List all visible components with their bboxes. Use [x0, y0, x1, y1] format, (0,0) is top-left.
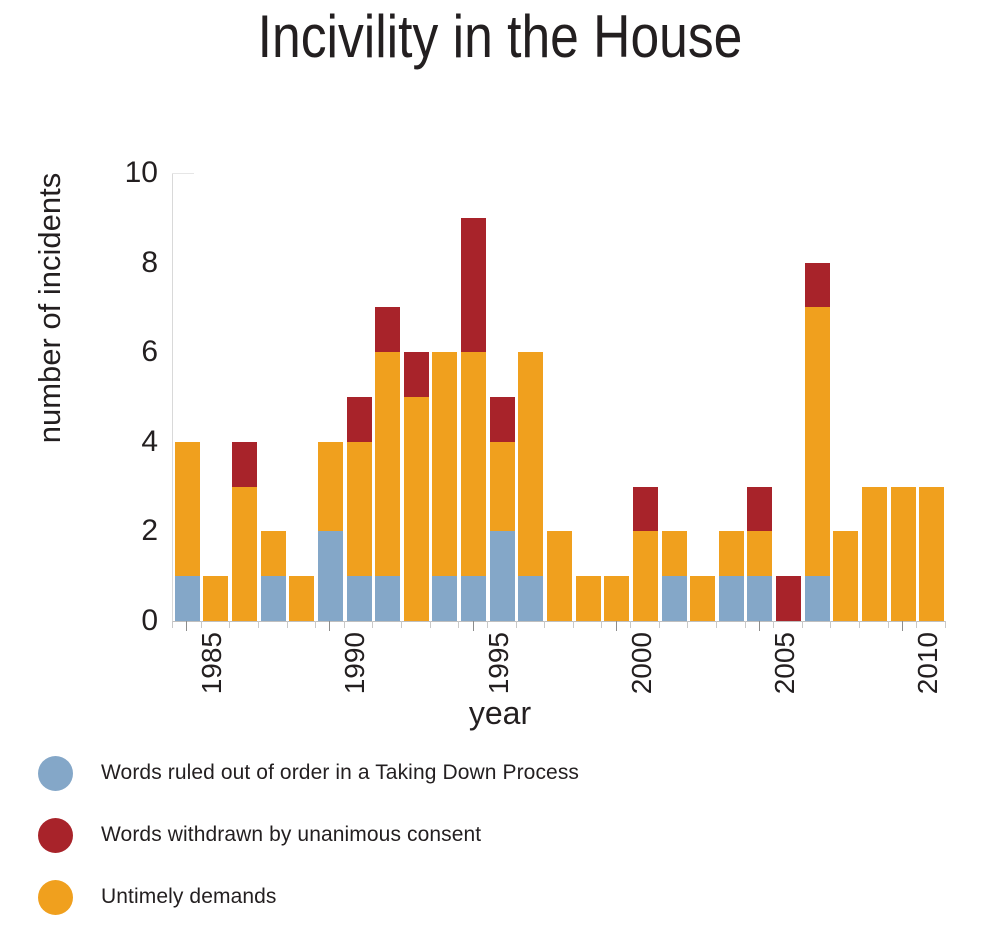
bar-segment-untimely	[518, 352, 543, 576]
bar-segment-withdrawn	[347, 397, 372, 442]
bar-2005[interactable]	[747, 487, 772, 621]
bar-segment-withdrawn	[404, 352, 429, 397]
bar-segment-withdrawn	[461, 218, 486, 352]
x-tick-label: 2000	[626, 632, 658, 694]
bar-segment-withdrawn	[375, 307, 400, 352]
bar-1997[interactable]	[518, 352, 543, 621]
x-axis-tick-major	[473, 621, 474, 631]
bar-segment-taking-down	[347, 576, 372, 621]
legend-swatch-taking_down	[38, 756, 73, 791]
bar-segment-withdrawn	[776, 576, 801, 621]
x-axis-tick	[916, 621, 917, 628]
bar-segment-taking-down	[175, 576, 200, 621]
x-tick-label: 2010	[912, 632, 944, 694]
bar-segment-untimely	[375, 352, 400, 576]
bar-segment-untimely	[604, 576, 629, 621]
bar-segment-untimely	[203, 576, 228, 621]
x-axis-tick-major	[902, 621, 903, 631]
x-axis-tick	[544, 621, 545, 628]
legend-item-withdrawn[interactable]: Words withdrawn by unanimous consent	[38, 804, 978, 866]
bar-2006[interactable]	[776, 576, 801, 621]
x-tick-label: 2005	[769, 632, 801, 694]
bar-segment-untimely	[232, 487, 257, 621]
bar-segment-untimely	[404, 397, 429, 621]
bar-segment-untimely	[576, 576, 601, 621]
bar-segment-taking-down	[518, 576, 543, 621]
chart-figure: 0246810 number of incidents 198519901995…	[0, 0, 1000, 760]
x-axis-tick	[802, 621, 803, 628]
x-axis-tick-major	[759, 621, 760, 631]
bar-segment-untimely	[318, 442, 343, 532]
x-axis-tick	[258, 621, 259, 628]
y-tick-label: 2	[96, 516, 158, 546]
bar-segment-taking-down	[432, 576, 457, 621]
bar-segment-untimely	[261, 531, 286, 576]
x-axis-tick	[201, 621, 202, 628]
bar-segment-untimely	[891, 487, 916, 621]
bar-segment-untimely	[461, 352, 486, 576]
bar-2007[interactable]	[805, 263, 830, 621]
x-axis-tick-major	[186, 621, 187, 631]
bar-1988[interactable]	[261, 531, 286, 621]
bar-segment-taking-down	[318, 531, 343, 621]
legend-swatch-withdrawn	[38, 818, 73, 853]
x-axis-tick	[172, 621, 173, 628]
bar-2000[interactable]	[604, 576, 629, 621]
bar-1995[interactable]	[461, 218, 486, 621]
bar-segment-untimely	[347, 442, 372, 576]
legend-swatch-untimely	[38, 880, 73, 915]
bar-segment-untimely	[175, 442, 200, 576]
bar-1998[interactable]	[547, 531, 572, 621]
x-axis-tick	[372, 621, 373, 628]
x-axis-tick	[773, 621, 774, 628]
bar-segment-taking-down	[261, 576, 286, 621]
x-axis-tick	[573, 621, 574, 628]
bar-segment-untimely	[719, 531, 744, 576]
bar-1992[interactable]	[375, 307, 400, 621]
legend-label: Untimely demands	[101, 885, 277, 908]
y-tick-label: 6	[96, 337, 158, 367]
bar-segment-untimely	[432, 352, 457, 576]
bar-2001[interactable]	[633, 487, 658, 621]
bar-1999[interactable]	[576, 576, 601, 621]
y-axis-title: number of incidents	[32, 108, 68, 508]
bar-segment-taking-down	[461, 576, 486, 621]
x-axis-tick	[945, 621, 946, 628]
bar-segment-untimely	[747, 531, 772, 576]
chart-legend: Words ruled out of order in a Taking Dow…	[38, 742, 978, 928]
x-axis-tick-major	[329, 621, 330, 631]
x-axis-tick	[458, 621, 459, 628]
bar-segment-untimely	[547, 531, 572, 621]
bar-segment-untimely	[862, 487, 887, 621]
bar-segment-untimely	[662, 531, 687, 576]
x-axis-tick	[344, 621, 345, 628]
bar-segment-untimely	[919, 487, 944, 621]
bar-segment-withdrawn	[805, 263, 830, 308]
bar-segment-untimely	[289, 576, 314, 621]
bar-segment-taking-down	[662, 576, 687, 621]
bar-1991[interactable]	[347, 397, 372, 621]
bar-segment-taking-down	[719, 576, 744, 621]
x-axis-tick	[745, 621, 746, 628]
plot-area	[172, 173, 945, 621]
bar-2002[interactable]	[662, 531, 687, 621]
x-axis-tick	[229, 621, 230, 628]
x-axis-tick	[287, 621, 288, 628]
bar-segment-untimely	[690, 576, 715, 621]
legend-item-taking_down[interactable]: Words ruled out of order in a Taking Dow…	[38, 742, 978, 804]
y-tick-label: 10	[96, 158, 158, 188]
bar-segment-taking-down	[490, 531, 515, 621]
x-tick-label: 1995	[483, 632, 515, 694]
y-tick-label: 4	[96, 427, 158, 457]
x-axis-tick	[401, 621, 402, 628]
x-axis-tick	[716, 621, 717, 628]
bar-segment-untimely	[633, 531, 658, 621]
bar-segment-withdrawn	[232, 442, 257, 487]
bar-2010[interactable]	[891, 487, 916, 621]
x-axis-tick	[516, 621, 517, 628]
x-tick-label: 1990	[339, 632, 371, 694]
legend-item-untimely[interactable]: Untimely demands	[38, 866, 978, 928]
bar-1990[interactable]	[318, 442, 343, 621]
bar-segment-taking-down	[747, 576, 772, 621]
bar-segment-untimely	[833, 531, 858, 621]
bar-1986[interactable]	[203, 576, 228, 621]
bar-1985[interactable]	[175, 442, 200, 621]
bar-1989[interactable]	[289, 576, 314, 621]
x-axis-tick	[888, 621, 889, 628]
x-axis-title: year	[0, 695, 1000, 732]
x-tick-label: 1985	[196, 632, 228, 694]
bar-segment-withdrawn	[490, 397, 515, 442]
legend-label: Words withdrawn by unanimous consent	[101, 823, 481, 846]
bar-2009[interactable]	[862, 487, 887, 621]
x-axis-tick	[687, 621, 688, 628]
bar-2004[interactable]	[719, 531, 744, 621]
bar-segment-taking-down	[375, 576, 400, 621]
bar-2003[interactable]	[690, 576, 715, 621]
x-axis-tick	[601, 621, 602, 628]
x-axis-tick	[859, 621, 860, 628]
x-axis-tick	[315, 621, 316, 628]
x-axis-tick	[487, 621, 488, 628]
bar-2011[interactable]	[919, 487, 944, 621]
bar-segment-untimely	[805, 307, 830, 576]
bar-segment-withdrawn	[747, 487, 772, 532]
bar-segment-untimely	[490, 442, 515, 532]
bar-1993[interactable]	[404, 352, 429, 621]
y-tick-label: 8	[96, 248, 158, 278]
bar-2008[interactable]	[833, 531, 858, 621]
legend-label: Words ruled out of order in a Taking Dow…	[101, 761, 579, 784]
bar-1994[interactable]	[432, 352, 457, 621]
bar-segment-withdrawn	[633, 487, 658, 532]
y-tick-label: 0	[96, 606, 158, 636]
y-tick-labels: 0246810	[0, 0, 160, 760]
bar-1996[interactable]	[490, 397, 515, 621]
x-axis-tick	[630, 621, 631, 628]
bar-segment-taking-down	[805, 576, 830, 621]
x-axis-tick	[659, 621, 660, 628]
x-axis-tick	[430, 621, 431, 628]
x-axis-tick-major	[616, 621, 617, 631]
bar-1987[interactable]	[232, 442, 257, 621]
x-axis-tick	[830, 621, 831, 628]
